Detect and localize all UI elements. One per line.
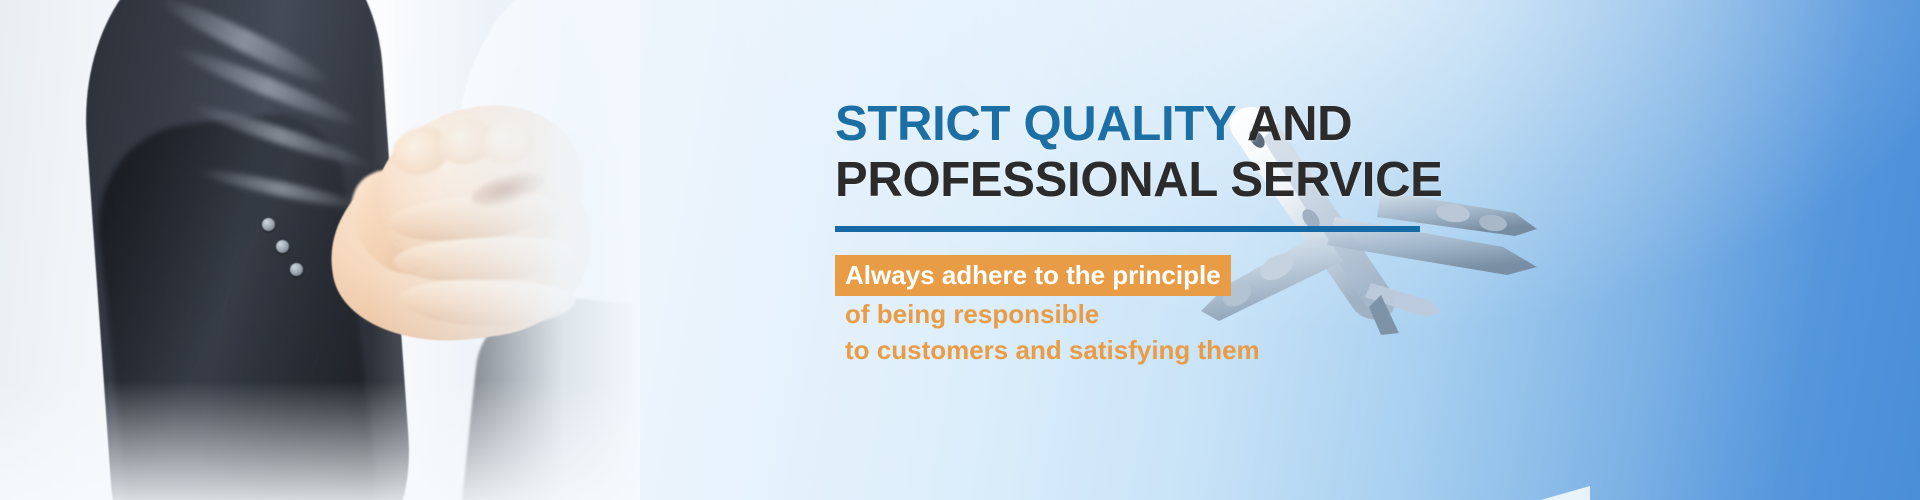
headline-rest-text: AND — [1236, 97, 1353, 151]
headline-second-line: PROFESSIONAL SERVICE — [835, 153, 1443, 207]
subtitle-line-1: Always adhere to the principle — [835, 255, 1231, 296]
suit-button — [262, 218, 275, 231]
handshake-photo — [0, 0, 640, 500]
subtitle-line-2: of being responsible — [835, 296, 1595, 332]
promo-banner: STRICT QUALITY AND PROFESSIONAL SERVICE … — [0, 0, 1920, 500]
suit-shadow — [88, 108, 382, 500]
banner-subtitle: Always adhere to the principle of being … — [835, 255, 1595, 368]
headline-accent-text: STRICT QUALITY — [835, 97, 1236, 151]
headline-divider — [835, 226, 1420, 232]
banner-text-block: STRICT QUALITY AND PROFESSIONAL SERVICE … — [835, 96, 1595, 368]
subtitle-line-3: to customers and satisfying them — [835, 332, 1595, 368]
suit-button — [290, 263, 303, 276]
suit-button — [276, 240, 289, 253]
banner-headline: STRICT QUALITY AND PROFESSIONAL SERVICE — [835, 96, 1595, 208]
